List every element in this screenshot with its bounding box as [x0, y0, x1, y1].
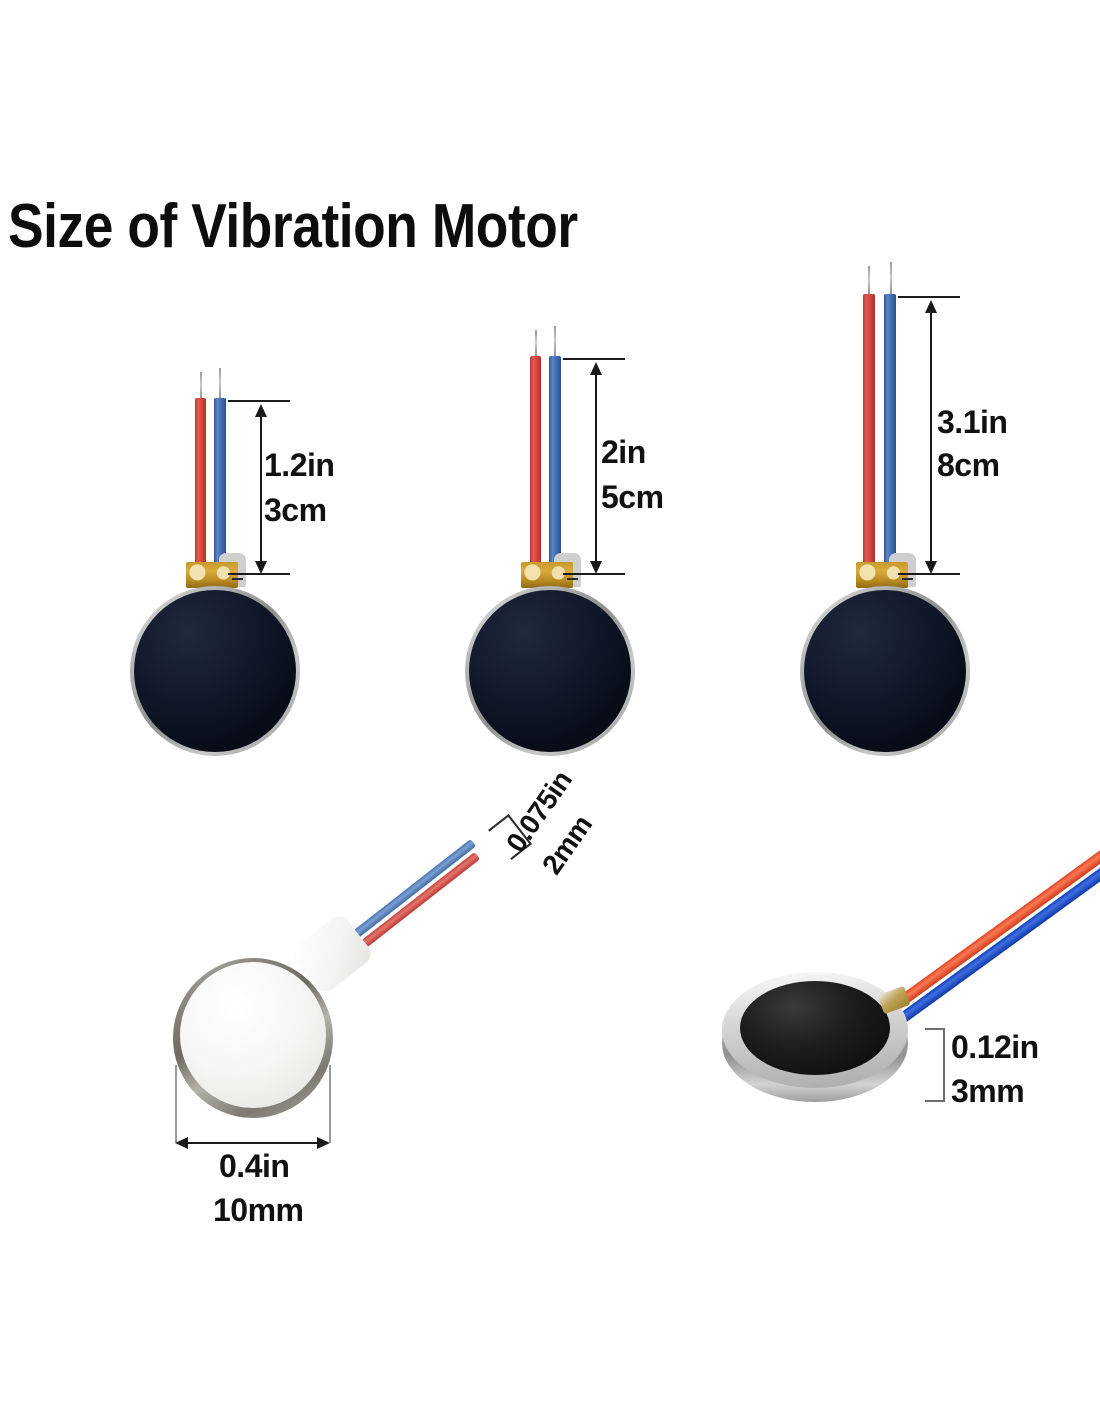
dim-label-imperial: 0.12in: [951, 1029, 1039, 1066]
dim-label-metric: 3mm: [951, 1073, 1024, 1110]
dim-bracket-thickness: [925, 1028, 945, 1102]
wire-red: [890, 827, 1100, 1012]
motor-perspective: 0.12in 3mm: [0, 0, 1100, 1260]
motor-top-face: [740, 981, 890, 1075]
